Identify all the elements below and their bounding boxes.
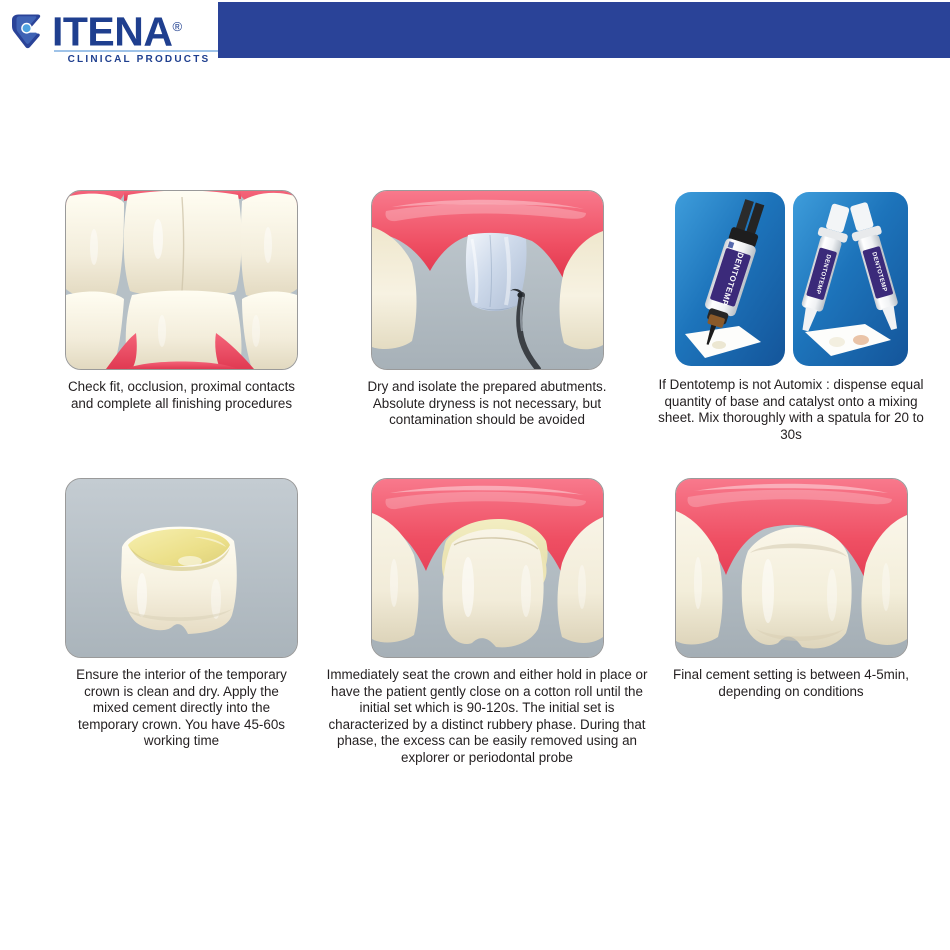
step-3-caption: If Dentotemp is not Automix : dispense e… — [656, 377, 926, 443]
steps-row-1: Check fit, occlusion, proximal contacts … — [0, 190, 950, 468]
brand-name-text: ITENA — [52, 9, 173, 55]
final-seated-crown-image — [675, 478, 908, 658]
prepared-abutment-with-probe-image — [371, 190, 604, 370]
brand-logo: ITENA® CLINICAL PRODUCTS — [8, 5, 223, 65]
step-1: Check fit, occlusion, proximal contacts … — [65, 190, 298, 412]
steps-grid: Check fit, occlusion, proximal contacts … — [0, 190, 950, 478]
crown-seated-excess-cement-image — [371, 478, 604, 658]
step-1-caption: Check fit, occlusion, proximal contacts … — [65, 379, 298, 412]
header-blue-banner — [218, 2, 950, 58]
step-6-caption: Final cement setting is between 4-5min, … — [656, 667, 926, 700]
step-4-caption: Ensure the interior of the temporary cro… — [65, 667, 298, 750]
step-6: Final cement setting is between 4-5min, … — [675, 478, 908, 700]
itena-leaf-mark-icon — [8, 11, 48, 51]
instruction-sheet-page: ITENA® CLINICAL PRODUCTS — [0, 0, 950, 950]
brand-divider-rule — [54, 50, 222, 52]
step-5-caption: Immediately seat the crown and either ho… — [322, 667, 652, 767]
step-4: Ensure the interior of the temporary cro… — [65, 478, 298, 750]
step-3: DENTOTEMP — [675, 190, 908, 443]
step-2: Dry and isolate the prepared abutments. … — [371, 190, 604, 429]
step-5: Immediately seat the crown and either ho… — [371, 478, 604, 767]
teeth-occlusion-closeup-image — [65, 190, 298, 370]
brand-tagline: CLINICAL PRODUCTS — [54, 54, 224, 65]
registered-trademark-icon: ® — [173, 19, 182, 34]
brand-wordmark: ITENA® — [52, 5, 182, 54]
temporary-crown-with-cement-image — [65, 478, 298, 658]
page-header: ITENA® CLINICAL PRODUCTS — [0, 0, 950, 70]
dentotemp-syringes-dispensing-image: DENTOTEMP — [675, 190, 908, 368]
step-2-caption: Dry and isolate the prepared abutments. … — [347, 379, 627, 429]
